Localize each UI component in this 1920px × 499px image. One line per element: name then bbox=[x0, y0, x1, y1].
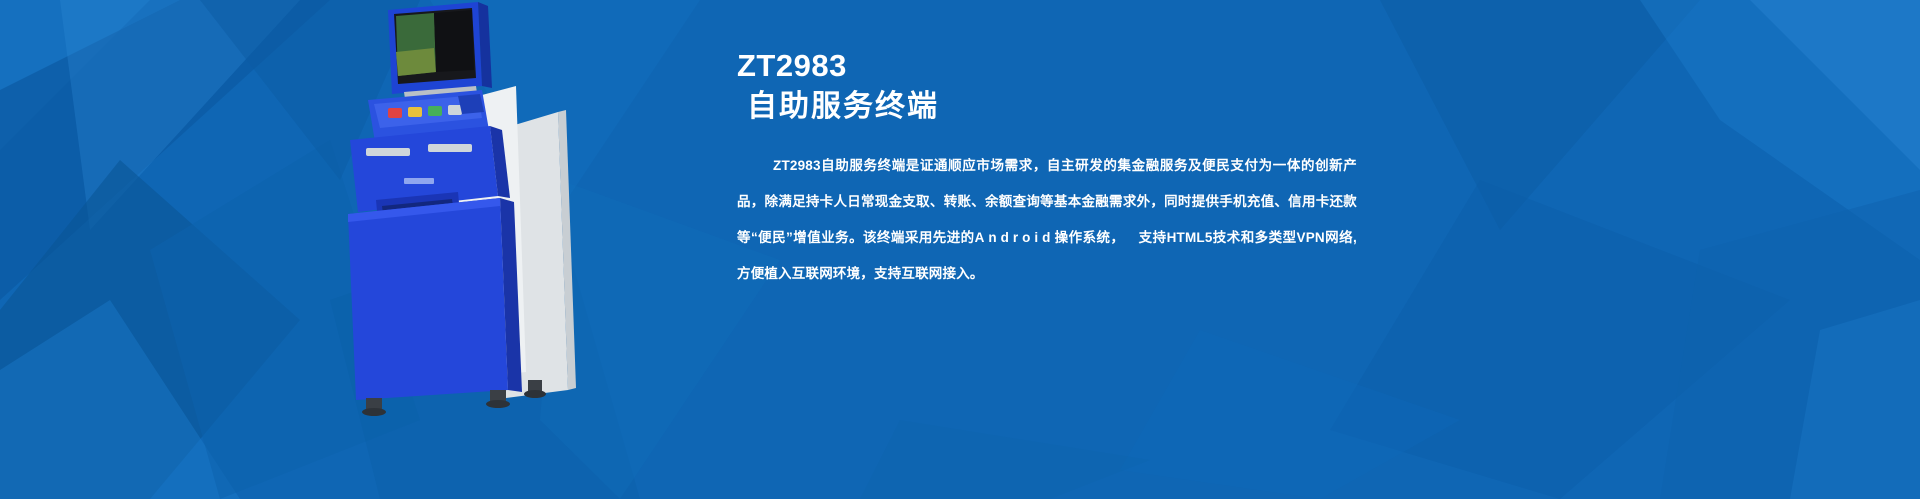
description-line-3a: 等“便民”增值业务。该终端采用先进的 bbox=[737, 230, 975, 245]
description-line-3c: 支持HTML5技术和多类型VPN网络, bbox=[1138, 230, 1357, 245]
description-line-4: 方便植入互联网环境，支持互联网接入。 bbox=[737, 266, 984, 281]
kiosk-screen-content-ground bbox=[396, 48, 436, 76]
product-model-title: ZT2983 bbox=[737, 46, 1357, 86]
kiosk-slot-right bbox=[428, 144, 472, 152]
product-name-title: 自助服务终端 bbox=[747, 86, 1357, 128]
description-line-2: ，除满足持卡人日常现金支取、转账、余额查询等基本金融需求外，同时提供手机充值、信… bbox=[751, 194, 1357, 209]
product-banner: ZT2983 自助服务终端 ZT2983自助服务终端是证通顺应市场需求，自主研发… bbox=[0, 0, 1920, 499]
kiosk-key-yellow bbox=[408, 107, 422, 117]
kiosk-foot-pad-right bbox=[486, 400, 510, 408]
kiosk-key-green bbox=[428, 106, 442, 116]
description-line-3b: 操作系统， bbox=[1054, 230, 1124, 245]
kiosk-body-lower bbox=[348, 198, 508, 400]
banner-copy: ZT2983 自助服务终端 ZT2983自助服务终端是证通顺应市场需求，自主研发… bbox=[737, 46, 1357, 292]
kiosk-illustration bbox=[330, 0, 750, 499]
kiosk-card-reader bbox=[458, 94, 484, 114]
kiosk-screen-content-dark bbox=[434, 10, 474, 72]
kiosk-slot-left bbox=[366, 148, 410, 156]
kiosk-foot-pad-left bbox=[362, 408, 386, 416]
kiosk-key-red bbox=[388, 108, 402, 118]
kiosk-key-grey bbox=[448, 105, 462, 115]
product-image bbox=[330, 0, 750, 499]
product-description: ZT2983自助服务终端是证通顺应市场需求，自主研发的集金融服务及便民支付为一体… bbox=[737, 148, 1357, 292]
description-android: Android bbox=[975, 230, 1055, 245]
kiosk-brand-mark bbox=[404, 178, 434, 184]
kiosk-foot-pad-back bbox=[524, 390, 546, 398]
